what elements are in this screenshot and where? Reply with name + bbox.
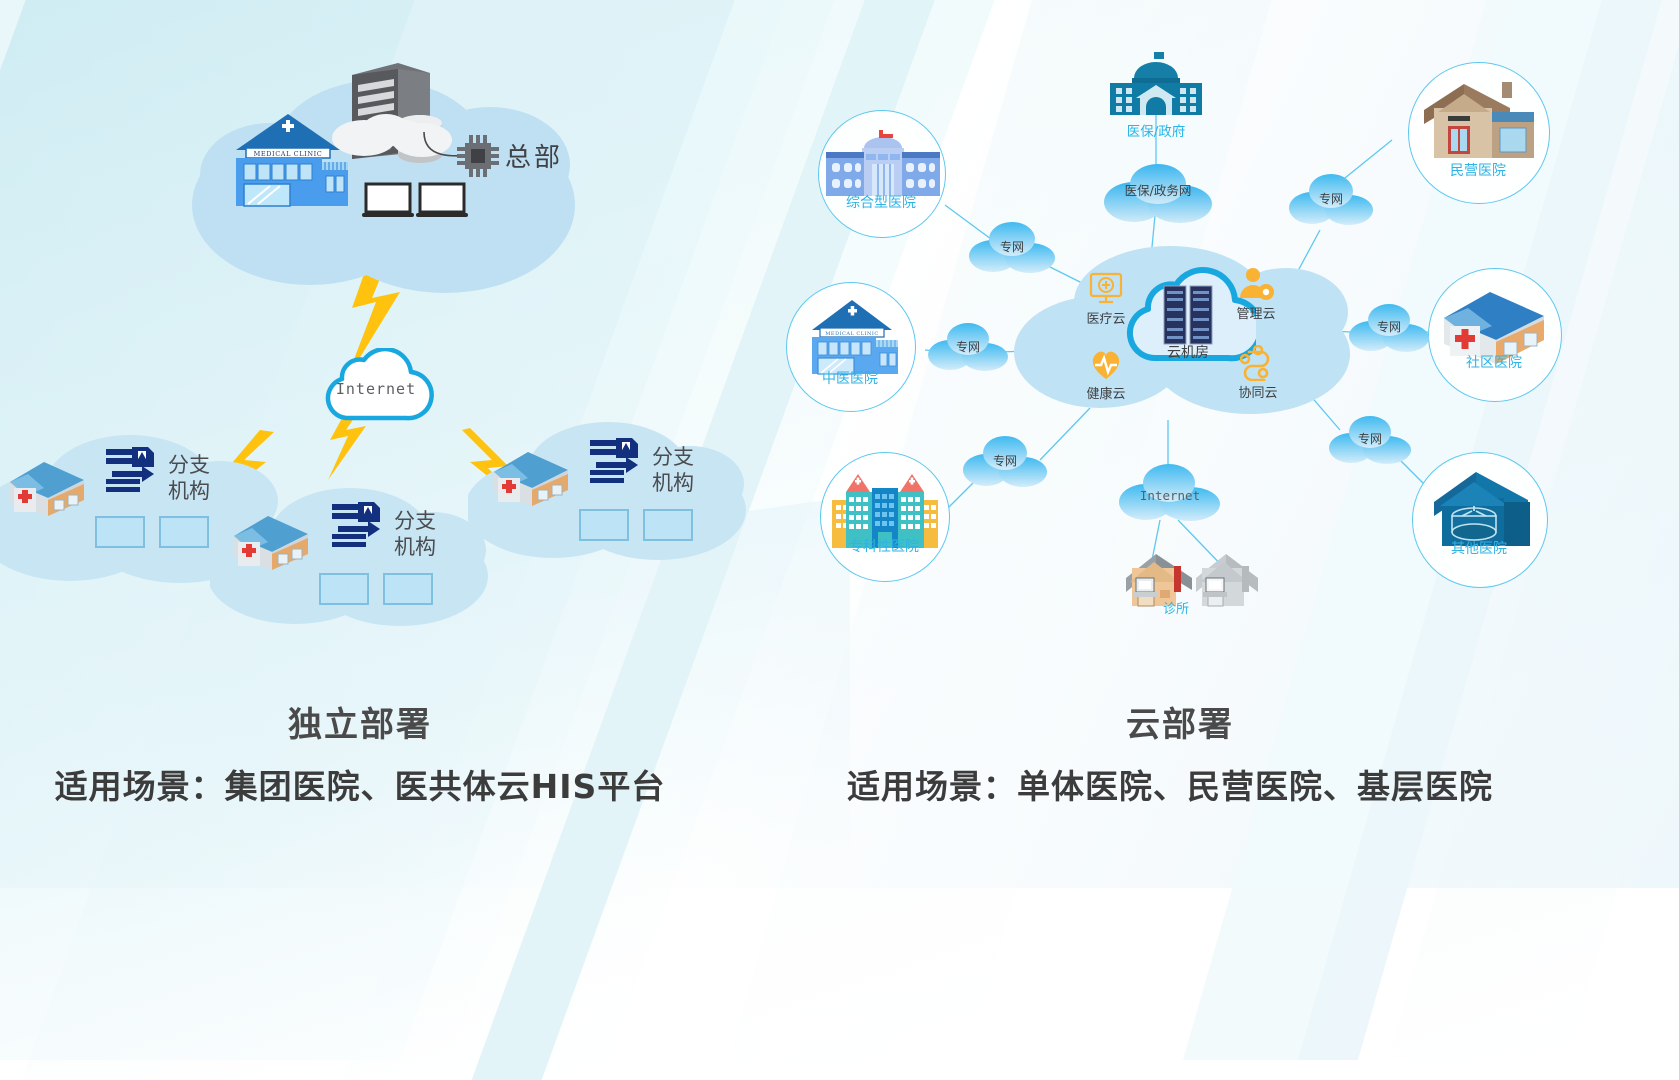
network-router-icon xyxy=(328,500,384,556)
node-label-other-hospital: 其他医院 xyxy=(1412,538,1546,558)
hospital-house-icon xyxy=(492,448,570,510)
monitor-pair-icon xyxy=(578,508,708,542)
node-label-general-hospital: 综合型医院 xyxy=(818,192,944,212)
monitor-plus-icon xyxy=(1088,272,1124,306)
node-label-tcm-hospital: 中医医院 xyxy=(786,368,914,388)
node-label-private-hospital: 民营医院 xyxy=(1408,160,1548,180)
branch-label-3-line1: 分支 xyxy=(652,445,694,469)
laptop-icon xyxy=(362,182,414,220)
service-label-medical-cloud: 医疗云 xyxy=(1078,308,1134,327)
left-caption-title: 独立部署 xyxy=(180,697,540,746)
branch-label-2-line1: 分支 xyxy=(394,509,436,533)
laptop-icon xyxy=(416,182,468,220)
network-router-icon xyxy=(586,436,642,492)
government-label: 医保/政府 xyxy=(1096,120,1216,140)
internet-cloud-left-label: Internet xyxy=(318,380,434,398)
private-network-label: 专网 xyxy=(968,238,1056,255)
node-label-community-hospital: 社区医院 xyxy=(1428,352,1560,372)
collaboration-icon xyxy=(1240,345,1276,381)
monitor-pair-icon xyxy=(318,572,448,606)
datacenter-label: 云机房 xyxy=(1120,342,1256,362)
tcm-clinic-building-icon: MEDICAL CLINIC xyxy=(806,298,898,376)
left-caption-subtitle: 适用场景：集团医院、医共体云HIS平台 xyxy=(20,760,700,808)
svg-text:MEDICAL CLINIC: MEDICAL CLINIC xyxy=(254,150,323,158)
cpu-chip-icon xyxy=(455,133,501,179)
private-house-building-icon xyxy=(1418,78,1538,162)
hospital-house-icon xyxy=(8,458,86,520)
private-network-label: 专网 xyxy=(1328,430,1412,447)
hq-label: 总部 xyxy=(505,137,563,174)
private-network-label: 专网 xyxy=(962,452,1048,469)
branch-label-1-line2: 机构 xyxy=(168,479,210,503)
private-network-label: 专网 xyxy=(1348,318,1430,335)
branch-label-1-line1: 分支 xyxy=(168,453,210,477)
branch-label-3-line2: 机构 xyxy=(652,471,694,495)
right-caption-subtitle: 适用场景：单体医院、民营医院、基层医院 xyxy=(800,760,1540,808)
person-gear-icon xyxy=(1238,266,1274,302)
heart-pulse-icon xyxy=(1088,348,1124,382)
general-hospital-building-icon xyxy=(824,130,942,200)
private-network-label: 专网 xyxy=(928,338,1008,355)
government-network-label: 医保/政务网 xyxy=(1102,180,1214,199)
service-label-health-cloud: 健康云 xyxy=(1078,383,1134,402)
right-caption-title: 云部署 xyxy=(1000,697,1360,746)
service-label-management-cloud: 管理云 xyxy=(1228,303,1284,322)
internet-cloud-right-label: Internet xyxy=(1118,488,1222,503)
service-label-collaboration-cloud: 协同云 xyxy=(1230,382,1286,401)
svg-text:MEDICAL CLINIC: MEDICAL CLINIC xyxy=(825,331,878,337)
private-network-label: 专网 xyxy=(1288,190,1374,207)
diagram-canvas: MEDICAL CLINIC xyxy=(0,0,1679,888)
network-router-icon xyxy=(102,445,158,501)
node-label-clinic: 诊所 xyxy=(1122,598,1230,617)
hospital-house-icon xyxy=(232,512,310,574)
branch-label-2-line2: 机构 xyxy=(394,535,436,559)
node-label-specialty-hospital: 专科性医院 xyxy=(820,536,948,556)
government-building-icon xyxy=(1108,52,1204,116)
monitor-pair-icon xyxy=(94,515,224,549)
